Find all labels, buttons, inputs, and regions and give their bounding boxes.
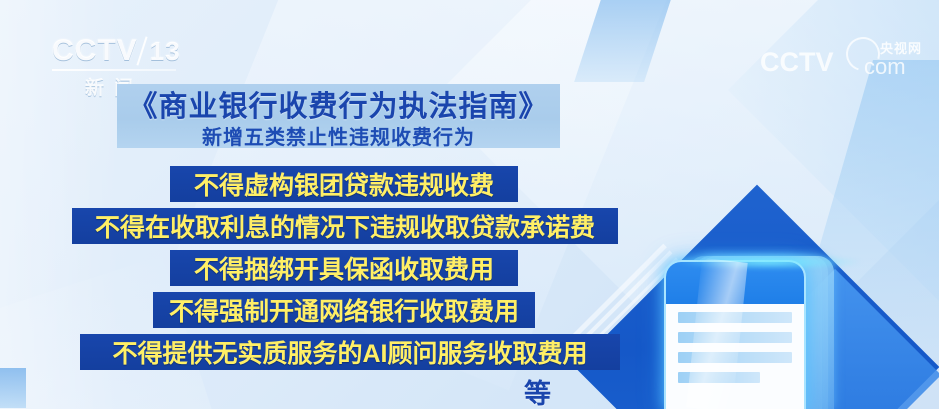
blue-diamond-highlight xyxy=(729,269,939,409)
cctv-logo-rule xyxy=(52,69,176,71)
cctv-com-watermark: CCTV 央视网 com xyxy=(760,33,910,79)
list-item: 不得捆绑开具保函收取费用 xyxy=(170,250,518,286)
phone-ghost-layer-1 xyxy=(700,256,834,409)
background-facet-tab xyxy=(574,0,680,82)
document-line xyxy=(678,332,792,343)
list-item: 不得强制开通网络银行收取费用 xyxy=(153,292,535,328)
list-item: 不得在收取利息的情况下违规收取贷款承诺费 xyxy=(72,208,618,244)
list-item: 不得提供无实质服务的AI顾问服务收取费用 xyxy=(80,334,620,370)
background-facet-corner-square xyxy=(0,368,26,408)
news-graphic-stage: CCTV 13 新闻 CCTV 央视网 com 《商业银行收费行为执法指南》 新… xyxy=(0,0,939,409)
list-item: 不得虚构银团贷款违规收费 xyxy=(170,166,518,202)
page-title: 《商业银行收费行为执法指南》 xyxy=(117,83,560,125)
phone-ghost-layer-2 xyxy=(694,256,828,409)
watermark-brand: CCTV xyxy=(760,47,834,78)
list-suffix: 等 xyxy=(524,372,551,409)
document-line xyxy=(678,352,792,363)
document-line xyxy=(678,312,792,323)
cctv-logo-number: 13 xyxy=(141,38,181,64)
phone-ghost-layer-3 xyxy=(688,256,822,409)
cctv-logo-text: CCTV xyxy=(52,36,138,66)
headline-band: 《商业银行收费行为执法指南》 新增五类禁止性违规收费行为 xyxy=(117,84,560,148)
phone-document-graphic xyxy=(664,250,879,409)
background-facet-right-panel xyxy=(787,60,939,360)
phone-screen-body xyxy=(666,304,804,409)
cctv13-logo-wordmark: CCTV 13 xyxy=(52,36,182,66)
phone-top-glow xyxy=(674,254,864,270)
document-line xyxy=(678,372,760,383)
phone-screen xyxy=(664,260,806,409)
watermark-domain: com xyxy=(864,54,906,80)
blue-diamond-shape xyxy=(575,185,939,409)
phone-sheen xyxy=(686,258,747,409)
phone-screen-header xyxy=(666,262,804,304)
cctv-logo-number-text: 13 xyxy=(150,36,181,66)
page-subtitle: 新增五类禁止性违规收费行为 xyxy=(117,121,560,150)
